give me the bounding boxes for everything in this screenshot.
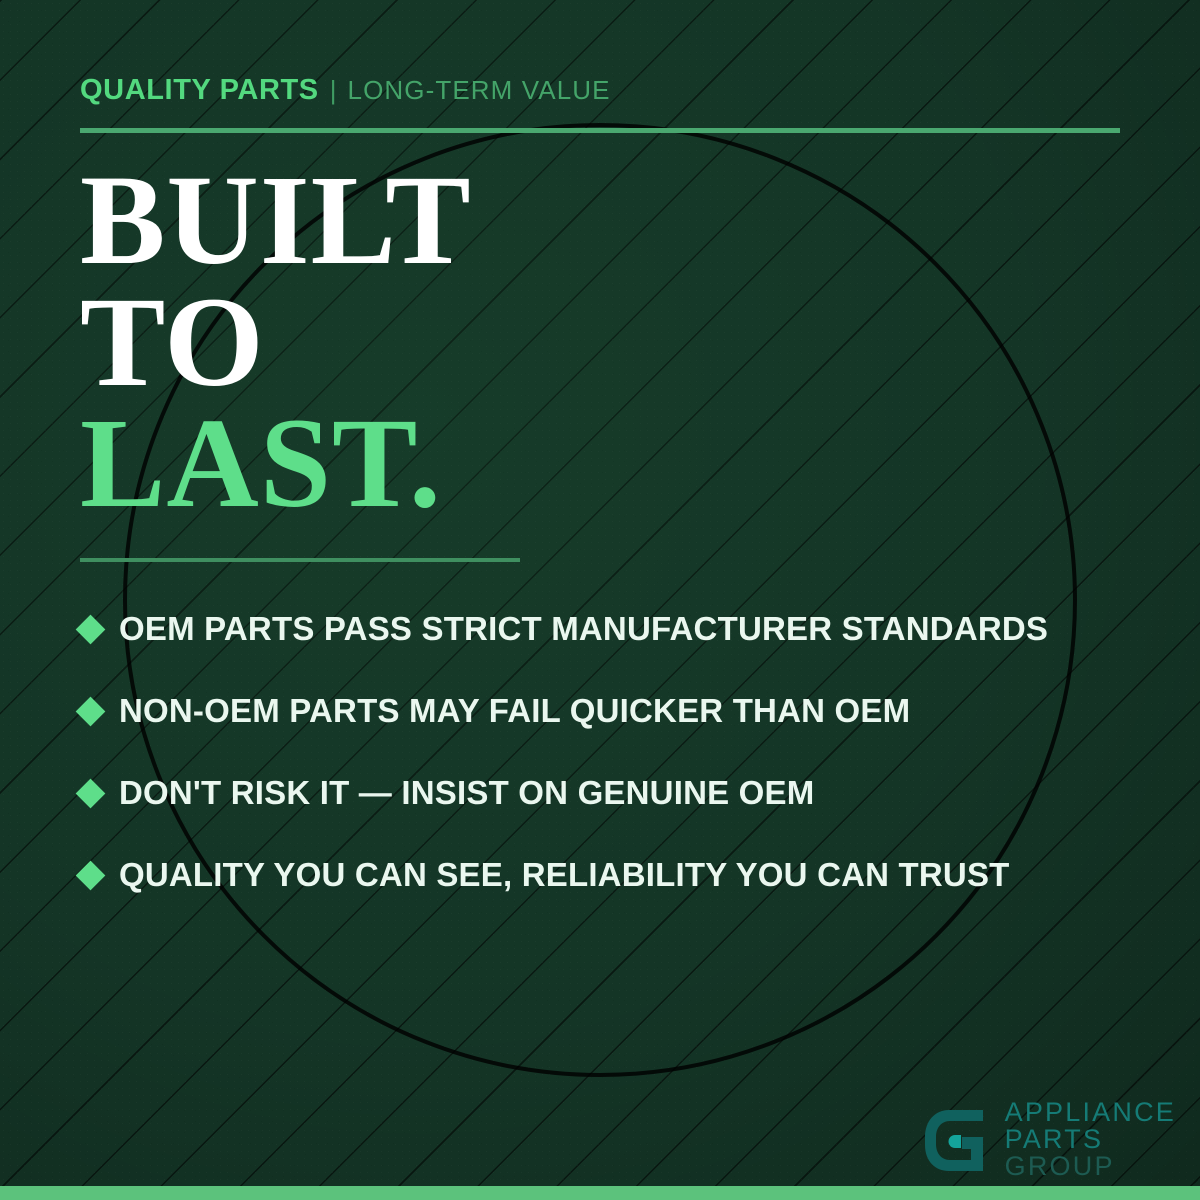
list-item: NON-OEM PARTS MAY FAIL QUICKER THAN OEM xyxy=(80,670,1150,752)
headline-line-2: TO xyxy=(80,282,472,404)
poster-content: QUALITY PARTS | LONG-TERM VALUE BUILT TO… xyxy=(0,0,1200,1200)
brand-logo: APPLIANCE PARTS GROUP xyxy=(919,1099,1176,1180)
brand-word-appliance: APPLIANCE xyxy=(1005,1099,1176,1126)
diamond-icon xyxy=(76,860,106,890)
g-monogram-icon xyxy=(919,1104,991,1176)
brand-logo-wordmark: APPLIANCE PARTS GROUP xyxy=(1005,1099,1176,1180)
eyebrow-header: QUALITY PARTS | LONG-TERM VALUE xyxy=(80,74,611,107)
header-divider-rule xyxy=(80,128,1120,133)
eyebrow-light-text: LONG-TERM VALUE xyxy=(348,75,611,106)
diamond-icon xyxy=(76,778,106,808)
diamond-icon xyxy=(76,696,106,726)
diamond-icon xyxy=(76,614,106,644)
bottom-accent-bar xyxy=(0,1186,1200,1200)
list-item-label: NON-OEM PARTS MAY FAIL QUICKER THAN OEM xyxy=(119,692,910,730)
list-item: OEM PARTS PASS STRICT MANUFACTURER STAND… xyxy=(80,588,1150,670)
page-title: BUILT TO LAST. xyxy=(80,160,472,525)
benefit-list: OEM PARTS PASS STRICT MANUFACTURER STAND… xyxy=(80,588,1150,916)
eyebrow-separator: | xyxy=(330,75,337,106)
brand-word-group: GROUP xyxy=(1005,1153,1176,1180)
poster-canvas: QUALITY PARTS | LONG-TERM VALUE BUILT TO… xyxy=(0,0,1200,1200)
list-item: QUALITY YOU CAN SEE, RELIABILITY YOU CAN… xyxy=(80,834,1150,916)
list-item: DON'T RISK IT — INSIST ON GENUINE OEM xyxy=(80,752,1150,834)
headline-divider-rule xyxy=(80,558,520,562)
list-item-label: OEM PARTS PASS STRICT MANUFACTURER STAND… xyxy=(119,610,1048,648)
list-item-label: QUALITY YOU CAN SEE, RELIABILITY YOU CAN… xyxy=(119,856,1010,894)
headline-line-3: LAST. xyxy=(80,403,472,525)
headline-line-1: BUILT xyxy=(80,160,472,282)
list-item-label: DON'T RISK IT — INSIST ON GENUINE OEM xyxy=(119,774,814,812)
brand-word-parts: PARTS xyxy=(1005,1126,1176,1153)
eyebrow-strong-text: QUALITY PARTS xyxy=(80,74,319,107)
